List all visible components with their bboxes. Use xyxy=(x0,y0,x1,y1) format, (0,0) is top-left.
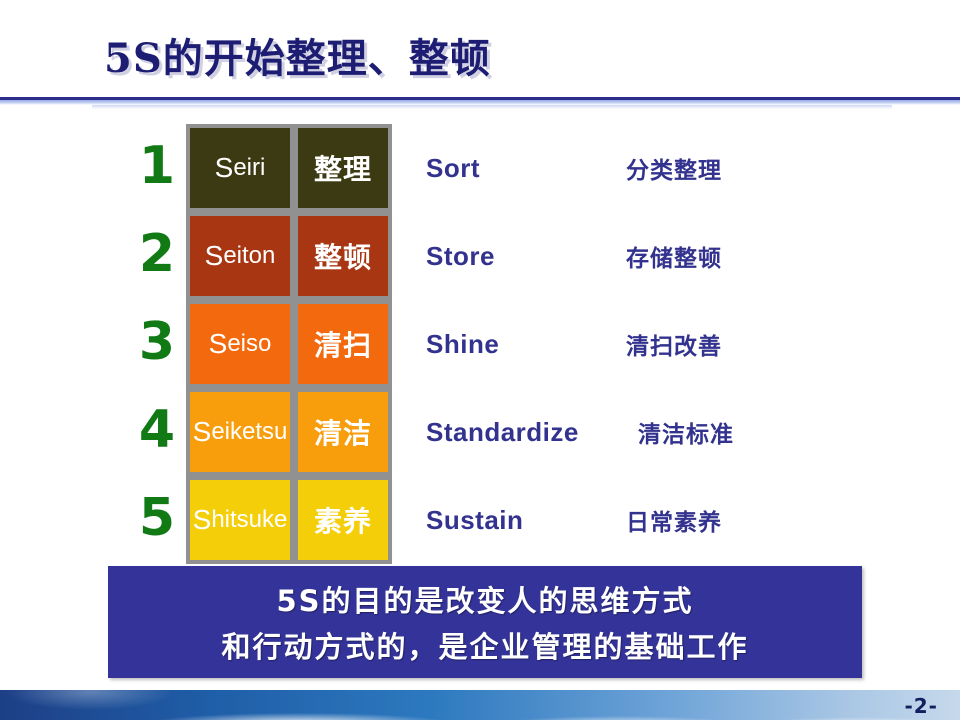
row-number: 5 xyxy=(128,492,186,548)
romaji-initial: S xyxy=(209,328,228,360)
page-title: 5S的开始整理、整顿 xyxy=(104,26,491,84)
banner-line-2: 和行动方式的，是企业管理的基础工作 xyxy=(221,624,748,666)
english-term: Standardize xyxy=(426,417,626,448)
row-cells: Seiso 清扫 xyxy=(186,300,392,388)
romaji-rest: hitsuke xyxy=(211,506,287,534)
cell-kanji: 整顿 xyxy=(294,212,392,300)
cell-kanji: 清扫 xyxy=(294,300,392,388)
row-number: 2 xyxy=(128,228,186,284)
page-number: -2- xyxy=(904,694,938,718)
romaji-rest: eiri xyxy=(233,154,265,182)
cell-kanji: 素养 xyxy=(294,476,392,564)
cell-romaji: Seiso xyxy=(186,300,294,388)
cell-kanji: 清洁 xyxy=(294,388,392,476)
row-number: 4 xyxy=(128,404,186,460)
english-term: Sustain xyxy=(426,505,626,536)
row-cells: Shitsuke 素养 xyxy=(186,476,392,564)
romaji-initial: S xyxy=(193,416,212,448)
row-cells: Seiri 整理 xyxy=(186,124,392,212)
sky-footer-image xyxy=(0,690,960,720)
romaji-rest: eiketsu xyxy=(211,418,287,446)
row-cells: Seiketsu 清洁 xyxy=(186,388,392,476)
row-cells: Seiton 整顿 xyxy=(186,212,392,300)
romaji-initial: S xyxy=(215,152,234,184)
slide: 5S的开始整理、整顿 1 Seiri 整理 Sort 分类整理 2 Seiton… xyxy=(0,0,960,720)
chinese-term: 清洁标准 xyxy=(626,415,734,449)
table-row: 1 Seiri 整理 Sort 分类整理 xyxy=(128,124,734,212)
five-s-table: 1 Seiri 整理 Sort 分类整理 2 Seiton 整顿 Store 存… xyxy=(128,124,734,564)
row-number: 3 xyxy=(128,316,186,372)
chinese-term: 分类整理 xyxy=(626,151,722,185)
romaji-initial: S xyxy=(205,240,224,272)
romaji-initial: S xyxy=(193,504,212,536)
table-row: 2 Seiton 整顿 Store 存储整顿 xyxy=(128,212,734,300)
cell-romaji: Seiton xyxy=(186,212,294,300)
cell-romaji: Shitsuke xyxy=(186,476,294,564)
english-term: Sort xyxy=(426,153,626,184)
row-number: 1 xyxy=(128,140,186,196)
cell-romaji: Seiri xyxy=(186,124,294,212)
table-row: 3 Seiso 清扫 Shine 清扫改善 xyxy=(128,300,734,388)
chinese-term: 存储整顿 xyxy=(626,239,722,273)
english-term: Shine xyxy=(426,329,626,360)
romaji-rest: eiton xyxy=(223,242,275,270)
english-term: Store xyxy=(426,241,626,272)
cell-romaji: Seiketsu xyxy=(186,388,294,476)
chinese-term: 日常素养 xyxy=(626,503,722,537)
header-divider-glow-inner xyxy=(92,105,892,109)
summary-banner: 5S的目的是改变人的思维方式 和行动方式的，是企业管理的基础工作 xyxy=(108,566,862,678)
table-row: 4 Seiketsu 清洁 Standardize 清洁标准 xyxy=(128,388,734,476)
cell-kanji: 整理 xyxy=(294,124,392,212)
chinese-term: 清扫改善 xyxy=(626,327,722,361)
banner-line-1: 5S的目的是改变人的思维方式 xyxy=(276,578,693,620)
romaji-rest: eiso xyxy=(227,330,271,358)
table-row: 5 Shitsuke 素养 Sustain 日常素养 xyxy=(128,476,734,564)
